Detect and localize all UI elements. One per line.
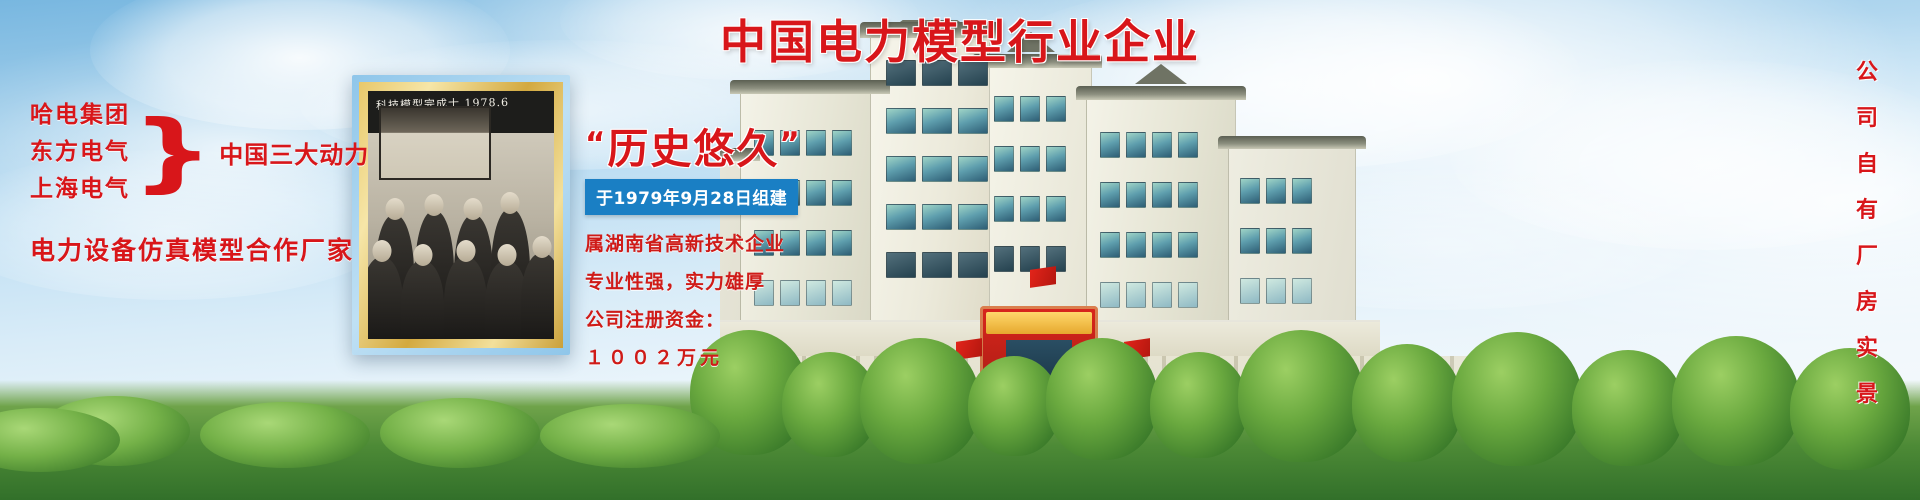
roof-cap (730, 80, 890, 94)
vertical-char: 司 (1856, 100, 1878, 132)
left-text-block: 哈电集团 东方电气 上海电气 } 中国三大动力 电力设备仿真模型合作厂家 (30, 104, 390, 267)
vertical-char: 有 (1856, 192, 1878, 224)
partners-summary: 中国三大动力 (219, 135, 369, 170)
history-headline: “历史悠久” (585, 128, 815, 171)
detail-line: 公司注册资金： (585, 305, 815, 332)
shrub-decor (200, 402, 370, 468)
right-vertical-caption: 公 司 自 有 厂 房 实 景 (1856, 54, 1878, 408)
partner-company-list: 哈电集团 东方电气 上海电气 (30, 104, 130, 201)
partner-company: 上海电气 (30, 178, 130, 201)
roof-cap (1218, 136, 1366, 149)
roof-cap (1076, 86, 1246, 100)
curly-brace-icon: } (131, 117, 214, 188)
tree-decor (1352, 344, 1462, 462)
tree-decor (1572, 350, 1684, 466)
vertical-char: 公 (1856, 54, 1878, 86)
partners-row: 哈电集团 东方电气 上海电气 } 中国三大动力 (30, 104, 390, 201)
photo-people-group (368, 133, 554, 339)
registered-capital-value: １００２万元 (585, 343, 815, 370)
vertical-char: 景 (1856, 376, 1878, 408)
shrub-decor (380, 398, 540, 468)
quote-open-mark: “ (585, 126, 607, 162)
vertical-char: 实 (1856, 330, 1878, 362)
cloud-decor (1450, 60, 1920, 250)
vertical-char: 自 (1856, 146, 1878, 178)
historic-group-photo: 科技模型完成士 1978.6 (368, 91, 554, 339)
history-headline-text: 历史悠久 (607, 125, 779, 173)
partner-company: 东方电气 (30, 141, 130, 164)
banner-title: 中国电力模型行业企业 (0, 6, 1920, 72)
tree-decor (1238, 330, 1364, 462)
founding-date-badge: 于1979年9月28日组建 (585, 179, 798, 215)
tree-decor (1150, 352, 1248, 458)
entrance-sign (986, 312, 1092, 334)
flag-decor (1030, 266, 1056, 288)
partner-company: 哈电集团 (30, 104, 130, 127)
tree-decor (1672, 336, 1800, 466)
center-detail-lines: 属湖南省高新技术企业 专业性强，实力雄厚 公司注册资金： １００２万元 (585, 229, 815, 370)
center-text-block: “历史悠久” 于1979年9月28日组建 属湖南省高新技术企业 专业性强，实力雄… (585, 128, 815, 370)
vertical-char: 厂 (1856, 238, 1878, 270)
quote-close-mark: ” (779, 126, 801, 162)
detail-line: 属湖南省高新技术企业 (585, 229, 815, 256)
promo-banner: 中国电力模型行业企业 哈电集团 东方电气 上海电气 } 中国三大动力 电力设备仿… (0, 0, 1920, 500)
tree-decor (860, 338, 980, 464)
detail-line: 专业性强，实力雄厚 (585, 267, 815, 294)
left-tagline: 电力设备仿真模型合作厂家 (30, 231, 390, 267)
tree-decor (1790, 348, 1910, 470)
shrub-decor (540, 404, 720, 468)
tree-decor (1452, 332, 1582, 466)
vertical-char: 房 (1856, 284, 1878, 316)
tree-decor (1046, 338, 1158, 460)
